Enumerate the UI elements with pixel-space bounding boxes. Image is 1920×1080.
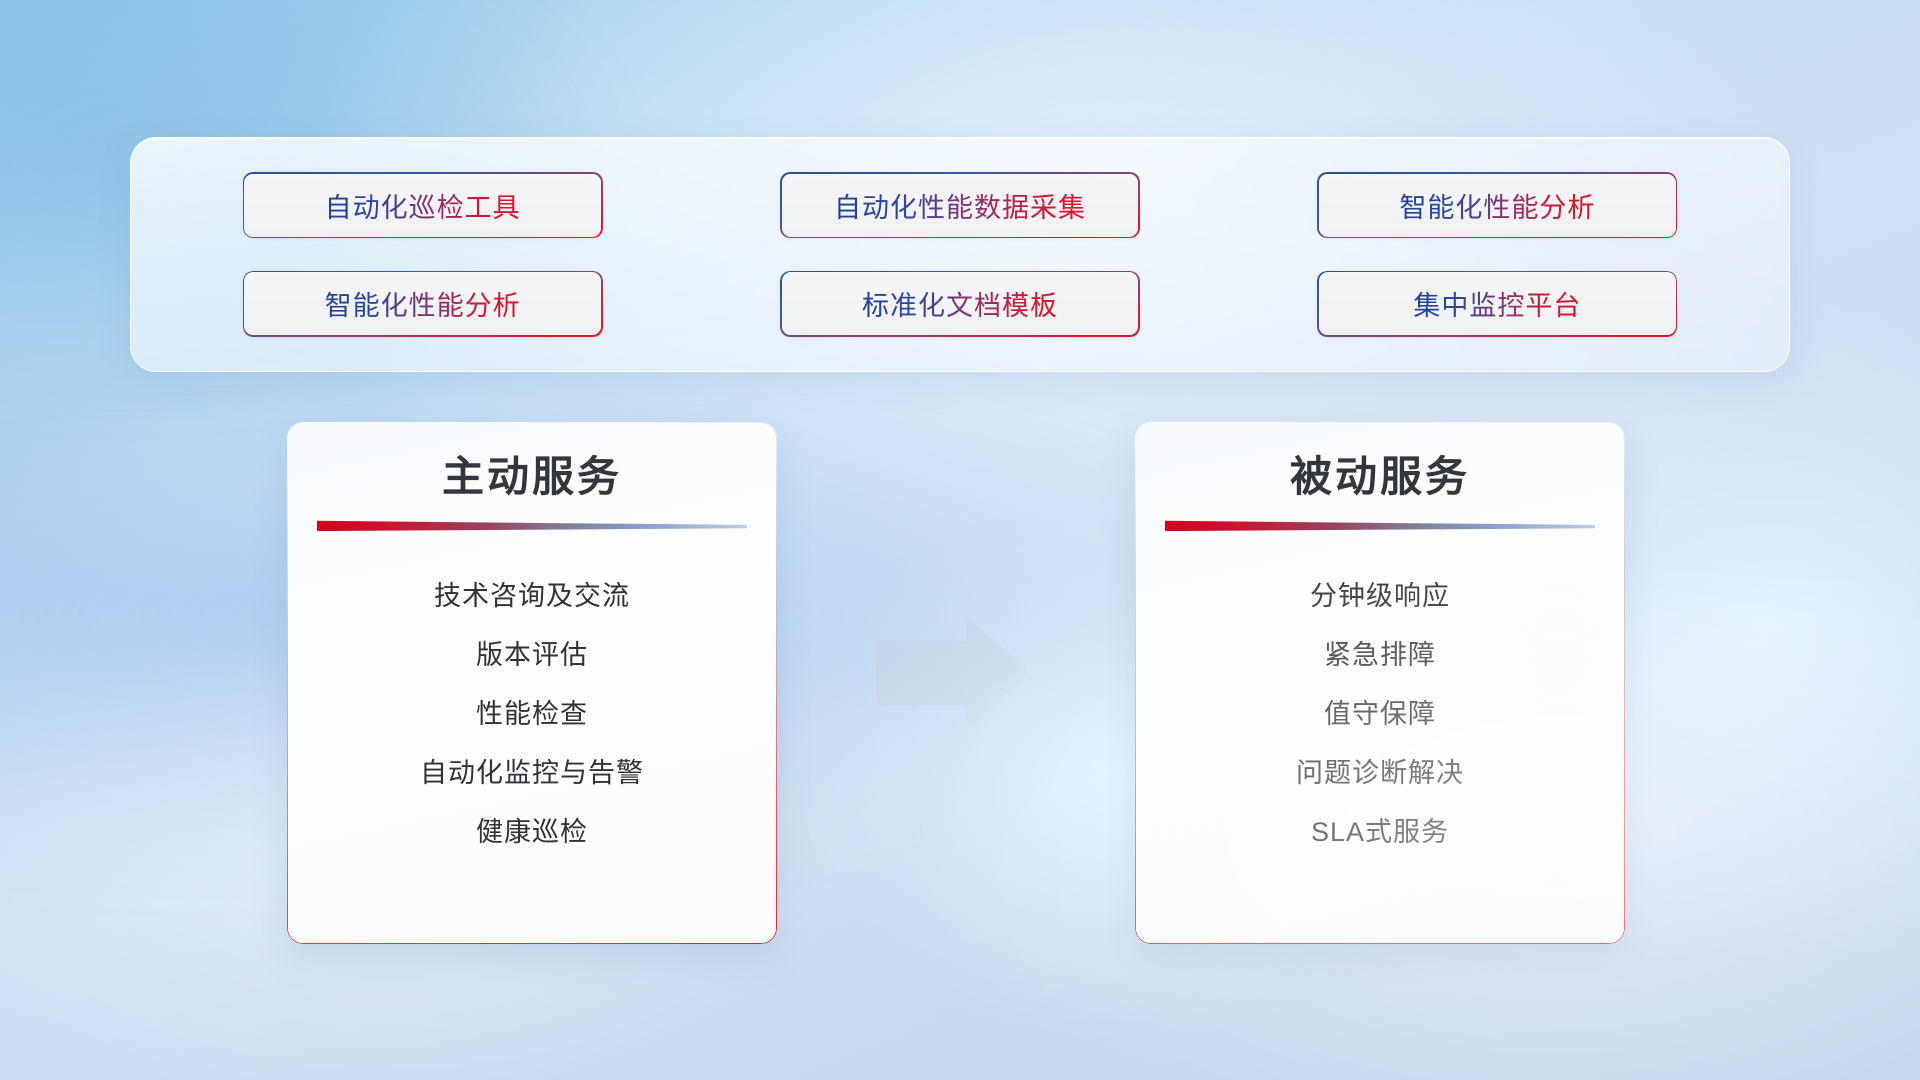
capability-pill-4[interactable]: 智能化性能分析 <box>243 271 603 337</box>
capability-pill-1-label: 自动化巡检工具 <box>325 186 521 225</box>
proactive-service-card-inner: 主动服务 技术咨询及交流 版本评估 性能检查 自动化监控与告警 健康巡检 <box>288 423 775 942</box>
list-item: 分钟级响应 <box>1136 567 1623 626</box>
capability-pill-5[interactable]: 标准化文档模板 <box>780 271 1140 337</box>
reactive-service-card: 被动服务 分钟级响应 紧急排障 值守保障 问题诊断解决 SLA式服务 <box>1135 422 1625 944</box>
capability-pill-5-label: 标准化文档模板 <box>862 284 1058 323</box>
reactive-service-title: 被动服务 <box>1290 453 1470 502</box>
list-item: SLA式服务 <box>1136 803 1623 862</box>
capability-pill-2-inner: 自动化性能数据采集 <box>782 174 1139 237</box>
capability-pill-3[interactable]: 智能化性能分析 <box>1317 172 1677 238</box>
list-item: 紧急排障 <box>1136 626 1623 685</box>
capability-pill-5-inner: 标准化文档模板 <box>782 272 1139 335</box>
proactive-service-list: 技术咨询及交流 版本评估 性能检查 自动化监控与告警 健康巡检 <box>288 567 775 862</box>
reactive-service-list: 分钟级响应 紧急排障 值守保障 问题诊断解决 SLA式服务 <box>1136 567 1623 862</box>
list-item: 自动化监控与告警 <box>288 744 775 803</box>
list-item: 问题诊断解决 <box>1136 744 1623 803</box>
capabilities-panel: 自动化巡检工具 自动化性能数据采集 智能化性能分析 智能化性能分析 标准化文档模… <box>130 137 1790 372</box>
proactive-divider-bar <box>317 520 747 531</box>
capability-pill-3-inner: 智能化性能分析 <box>1319 174 1676 237</box>
list-item: 技术咨询及交流 <box>288 567 775 626</box>
capability-pill-6-label: 集中监控平台 <box>1413 284 1581 323</box>
capability-pill-4-label: 智能化性能分析 <box>325 284 521 323</box>
capability-pill-6[interactable]: 集中监控平台 <box>1317 271 1677 337</box>
reactive-title-divider <box>1165 520 1595 531</box>
reactive-divider-bar <box>1165 520 1595 531</box>
list-item: 值守保障 <box>1136 685 1623 744</box>
capability-pill-3-label: 智能化性能分析 <box>1399 186 1595 225</box>
reactive-service-card-inner: 被动服务 分钟级响应 紧急排障 值守保障 问题诊断解决 SLA式服务 <box>1136 423 1623 942</box>
capability-pill-2[interactable]: 自动化性能数据采集 <box>780 172 1140 238</box>
capability-pill-1-inner: 自动化巡检工具 <box>244 174 601 237</box>
capability-pill-4-inner: 智能化性能分析 <box>244 272 601 335</box>
list-item: 版本评估 <box>288 626 775 685</box>
capability-pill-6-inner: 集中监控平台 <box>1319 272 1676 335</box>
capability-pill-1[interactable]: 自动化巡检工具 <box>243 172 603 238</box>
list-item: 性能检查 <box>288 685 775 744</box>
proactive-service-card: 主动服务 技术咨询及交流 版本评估 性能检查 自动化监控与告警 健康巡检 <box>287 422 777 944</box>
capability-pill-2-label: 自动化性能数据采集 <box>834 186 1086 225</box>
arrow-right-icon <box>870 615 1030 733</box>
slide-canvas: 自动化巡检工具 自动化性能数据采集 智能化性能分析 智能化性能分析 标准化文档模… <box>0 0 1920 1080</box>
list-item: 健康巡检 <box>288 803 775 862</box>
proactive-title-divider <box>317 520 747 531</box>
proactive-service-title: 主动服务 <box>442 453 622 502</box>
